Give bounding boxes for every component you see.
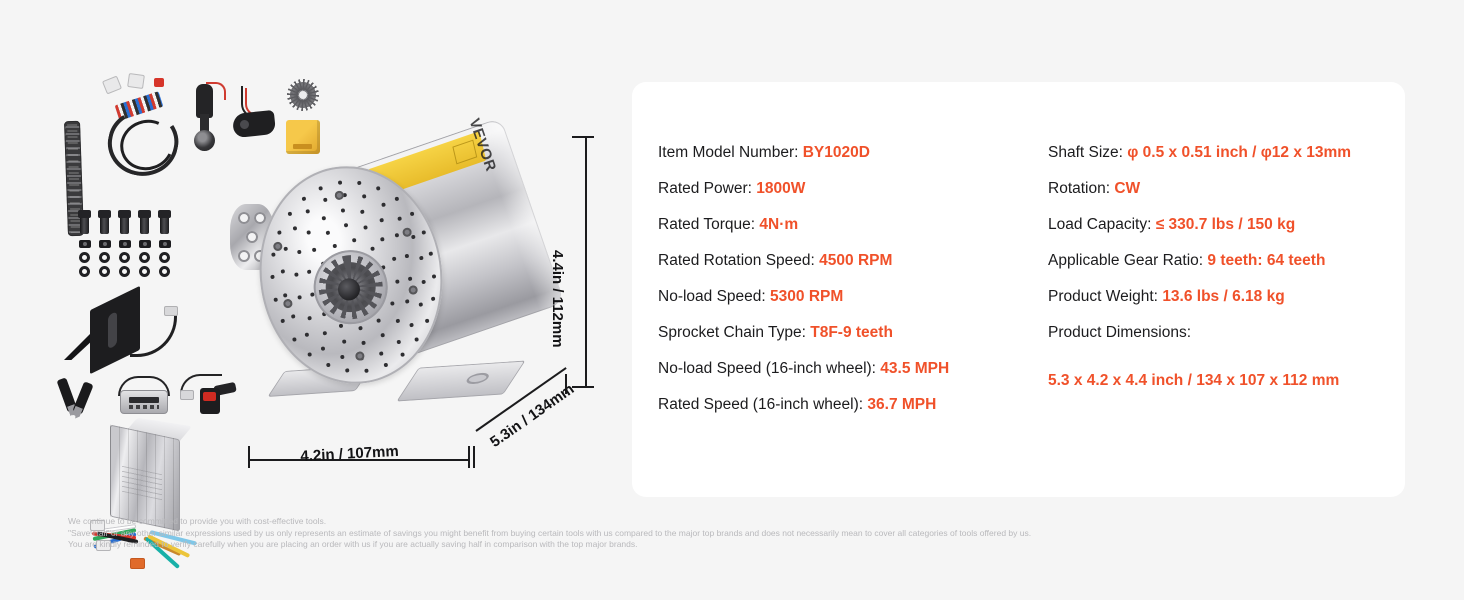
vent-hole (339, 323, 344, 328)
spec-row: Sprocket Chain Type: T8F-9 teeth (658, 322, 1048, 358)
width-tick-right (468, 446, 470, 468)
spec-value: φ 0.5 x 0.51 inch / φ12 x 13mm (1127, 144, 1351, 161)
vent-hole (409, 323, 414, 328)
vent-hole (362, 341, 367, 346)
spec-row: Shaft Size: φ 0.5 x 0.51 inch / φ12 x 13… (1048, 142, 1398, 178)
vent-hole (345, 369, 350, 374)
height-dimension-label: 4.4in / 112mm (549, 250, 566, 348)
vent-hole (304, 333, 309, 338)
spec-value: 9 teeth: 64 teeth (1207, 252, 1325, 269)
spec-label: No-load Speed (16-inch wheel): (658, 360, 876, 377)
spec-row: Rated Torque: 4N·m (658, 214, 1048, 250)
vent-hole (281, 270, 286, 275)
vent-hole (431, 297, 436, 302)
battery-indicator-icon (116, 376, 172, 418)
vent-hole (383, 363, 388, 368)
throttle-base (194, 130, 215, 151)
vent-hole (432, 274, 437, 279)
spec-label: Item Model Number: (658, 144, 798, 161)
width-tick-left (248, 446, 250, 468)
spec-label: Load Capacity: (1048, 216, 1151, 233)
mounting-bracket-icon (64, 288, 172, 362)
switch-red-button (203, 392, 216, 401)
xt-connector (130, 558, 145, 569)
bracket-connector (164, 306, 178, 316)
nut-icon (119, 240, 131, 248)
washer-icon (99, 266, 110, 277)
connector-plug-red (154, 78, 164, 87)
vent-hole (395, 280, 400, 285)
spec-label: Product Dimensions: (1048, 324, 1191, 341)
vent-hole (321, 347, 326, 352)
disclaimer-line-2: "Save Half"or any other similar expressi… (68, 528, 1398, 540)
vent-hole (294, 272, 299, 277)
spec-label: Product Weight: (1048, 288, 1158, 305)
vent-hole (288, 212, 293, 217)
vent-hole (273, 297, 278, 302)
bolt-icon (140, 210, 149, 234)
vent-hole (376, 186, 381, 191)
bolt-icon (120, 210, 129, 234)
washer-icon (79, 266, 90, 277)
indicator-body (120, 390, 168, 414)
vent-hole (396, 339, 401, 344)
bolt-icon (80, 210, 89, 234)
fasteners-group (80, 204, 230, 274)
vent-hole (357, 180, 362, 185)
spec-value-dimensions: 5.3 x 4.2 x 4.4 inch / 134 x 107 x 112 m… (1048, 372, 1398, 390)
spec-label: No-load Speed: (658, 288, 766, 305)
vent-hole (293, 226, 298, 231)
vent-hole (370, 246, 375, 251)
vent-hole (325, 231, 330, 236)
vent-hole (352, 238, 357, 243)
spec-column-right: Shaft Size: φ 0.5 x 0.51 inch / φ12 x 13… (1048, 142, 1398, 390)
vent-hole (377, 318, 382, 323)
spec-value: 13.6 lbs / 6.18 kg (1162, 288, 1284, 305)
bracket-cable (130, 310, 177, 357)
key-icon (72, 381, 93, 414)
spec-row: Rated Rotation Speed: 4500 RPM (658, 250, 1048, 286)
washer-icon (99, 252, 110, 263)
vent-hole (358, 326, 363, 331)
spec-row: Rated Power: 1800W (658, 178, 1048, 214)
spec-value: 43.5 MPH (880, 360, 949, 377)
vent-hole (293, 337, 298, 342)
vent-hole (380, 237, 385, 242)
spec-label: Sprocket Chain Type: (658, 324, 806, 341)
vent-hole (418, 302, 423, 307)
accessories-kit-image (58, 76, 248, 506)
nut-icon (139, 240, 151, 248)
sprocket-gear-icon (290, 82, 316, 108)
spec-value: 36.7 MPH (867, 396, 936, 413)
washer-icon (159, 266, 170, 277)
vent-hole (419, 256, 424, 261)
spec-row: No-load Speed (16-inch wheel): 43.5 MPH (658, 358, 1048, 394)
vent-hole (283, 293, 288, 298)
bolt-icon (100, 210, 109, 234)
vent-hole (277, 230, 282, 235)
spec-label: Applicable Gear Ratio: (1048, 252, 1203, 269)
motor-controller-icon (88, 424, 220, 574)
throttle-grip (196, 84, 213, 118)
width-tick-right2 (473, 446, 475, 468)
vent-hole (284, 247, 289, 252)
motor-product-image: VEVOR (250, 128, 560, 428)
nut-icon (79, 240, 91, 248)
vent-hole (306, 209, 311, 214)
vent-hole (394, 233, 399, 238)
spec-value: CW (1114, 180, 1140, 197)
disclaimer-line-3: You are kindly reminded to verify carefu… (68, 539, 1398, 551)
spec-value: 1800W (756, 180, 805, 197)
vent-hole (395, 319, 400, 324)
key-set-icon (62, 376, 106, 416)
indicator-leds (129, 405, 159, 409)
spec-value: 4N·m (759, 216, 798, 233)
width-dimension-label: 4.2in / 107mm (300, 443, 399, 465)
washer-icon (119, 266, 130, 277)
product-spec-page: VEVOR 4.4in / 112mm (0, 0, 1464, 600)
product-gallery: VEVOR 4.4in / 112mm (0, 0, 610, 510)
motor-mount-foot (396, 360, 525, 401)
vent-hole (323, 331, 328, 336)
disclaimer-line-1: We continue to be committed to provide y… (68, 516, 1398, 528)
vent-hole (409, 212, 414, 217)
vent-hole (342, 340, 347, 345)
vent-hole (380, 333, 385, 338)
spec-row: Load Capacity: ≤ 330.7 lbs / 150 kg (1048, 214, 1398, 250)
indicator-display (129, 397, 159, 403)
vent-hole (338, 180, 343, 185)
vent-hole (363, 225, 368, 230)
connector-plug (102, 76, 122, 95)
vent-hole (322, 216, 327, 221)
vent-hole (394, 196, 399, 201)
spec-row-dimensions: Product Dimensions: (1048, 322, 1398, 358)
vent-hole (429, 252, 434, 257)
spec-value: 5300 RPM (770, 288, 843, 305)
vent-hole (405, 254, 410, 259)
vent-hole (362, 194, 367, 199)
vent-hole (302, 196, 307, 201)
vent-hole (381, 202, 386, 207)
spec-label: Shaft Size: (1048, 144, 1123, 161)
vent-hole (307, 230, 312, 235)
disclaimer-text: We continue to be committed to provide y… (68, 516, 1398, 551)
vent-hole (379, 218, 384, 223)
vent-hole (344, 223, 349, 228)
vent-hole (398, 216, 403, 221)
vent-hole (405, 299, 410, 304)
bolt-icon (160, 210, 169, 234)
washer-icon (139, 266, 150, 277)
vent-hole (319, 186, 324, 191)
switch-connector (180, 390, 194, 400)
spec-value: T8F-9 teeth (810, 324, 893, 341)
washer-icon (139, 252, 150, 263)
vent-hole (307, 269, 312, 274)
spec-row: Rotation: CW (1048, 178, 1398, 214)
vent-hole (270, 275, 275, 280)
vent-hole (333, 244, 338, 249)
spec-value: 4500 RPM (819, 252, 892, 269)
vent-hole (291, 314, 296, 319)
washer-icon (119, 252, 130, 263)
nut-icon (99, 240, 111, 248)
vent-hole (271, 252, 276, 257)
spec-row: Product Weight: 13.6 lbs / 6.18 kg (1048, 286, 1398, 322)
vent-hole (340, 208, 345, 213)
vent-hole (400, 352, 405, 357)
vent-hole (390, 301, 395, 306)
vent-hole (425, 318, 430, 323)
vent-hole (421, 230, 426, 235)
vent-hole (340, 355, 345, 360)
spec-value: BY1020D (803, 144, 870, 161)
vent-hole (297, 250, 302, 255)
vent-hole (308, 352, 313, 357)
vent-hole (360, 209, 365, 214)
connector-plug (127, 73, 145, 89)
kill-switch-icon (180, 374, 238, 420)
vent-hole (414, 337, 419, 342)
spec-row: No-load Speed: 5300 RPM (658, 286, 1048, 322)
spec-row: Item Model Number: BY1020D (658, 142, 1048, 178)
height-tick-top (572, 136, 594, 138)
vent-hole (308, 316, 313, 321)
specifications-card: Item Model Number: BY1020D Rated Power: … (632, 82, 1405, 497)
spec-label: Rated Speed (16-inch wheel): (658, 396, 863, 413)
vent-hole (297, 295, 302, 300)
vent-hole (323, 198, 328, 203)
vent-hole (326, 363, 331, 368)
height-dimension-line (585, 136, 587, 388)
vent-hole (281, 319, 286, 324)
vent-hole (411, 234, 416, 239)
spec-row: Rated Speed (16-inch wheel): 36.7 MPH (658, 394, 1048, 430)
spec-column-left: Item Model Number: BY1020D Rated Power: … (658, 142, 1048, 430)
vent-hole (379, 351, 384, 356)
vent-hole (312, 247, 317, 252)
vent-hole (364, 369, 369, 374)
washer-icon (159, 252, 170, 263)
vent-hole (408, 277, 413, 282)
vent-hole (421, 279, 426, 284)
spec-label: Rated Torque: (658, 216, 755, 233)
spec-label: Rotation: (1048, 180, 1110, 197)
spec-value: ≤ 330.7 lbs / 150 kg (1156, 216, 1295, 233)
vent-hole (392, 257, 397, 262)
washer-icon (79, 252, 90, 263)
height-tick-bottom (572, 386, 594, 388)
wiring-harness-icon (98, 76, 184, 176)
throttle-grip-icon (186, 84, 222, 156)
spec-label: Rated Power: (658, 180, 752, 197)
nut-icon (159, 240, 171, 248)
spec-label: Rated Rotation Speed: (658, 252, 815, 269)
spec-row: Applicable Gear Ratio: 9 teeth: 64 teeth (1048, 250, 1398, 286)
